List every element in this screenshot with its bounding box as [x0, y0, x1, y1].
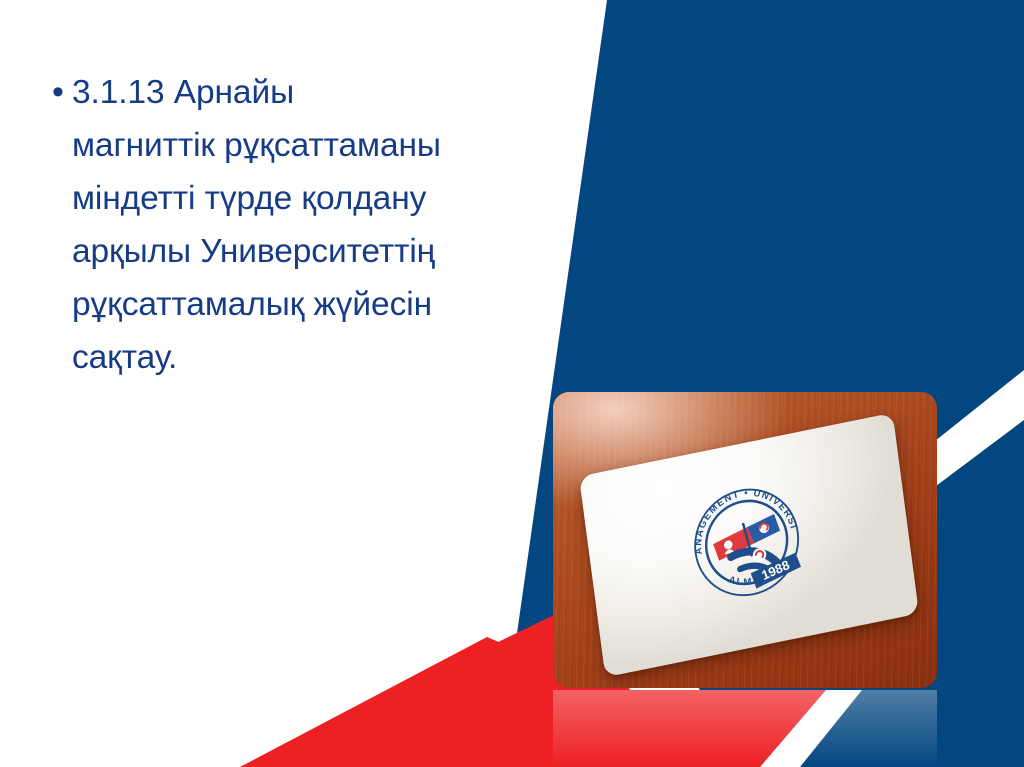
navy-bottom-wedge [776, 690, 1024, 767]
almaty-management-university-emblem: MANAGEMENT • UNIVERSITY ALMATY [678, 468, 816, 616]
bullet-list-item: • 3.1.13 Арнайы магниттік рұқсаттаманы м… [44, 66, 444, 384]
access-card-photo: MANAGEMENT • UNIVERSITY ALMATY [553, 392, 937, 688]
body-text-block: • 3.1.13 Арнайы магниттік рұқсаттаманы м… [44, 66, 444, 384]
bullet-marker: • [44, 66, 72, 119]
white-bottom-stripe [760, 690, 862, 767]
photo-reflection [0, 690, 1024, 767]
slide-canvas: • 3.1.13 Арнайы магниттік рұқсаттаманы м… [0, 0, 1024, 767]
bullet-item-text: 3.1.13 Арнайы магниттік рұқсаттаманы мін… [72, 66, 444, 384]
